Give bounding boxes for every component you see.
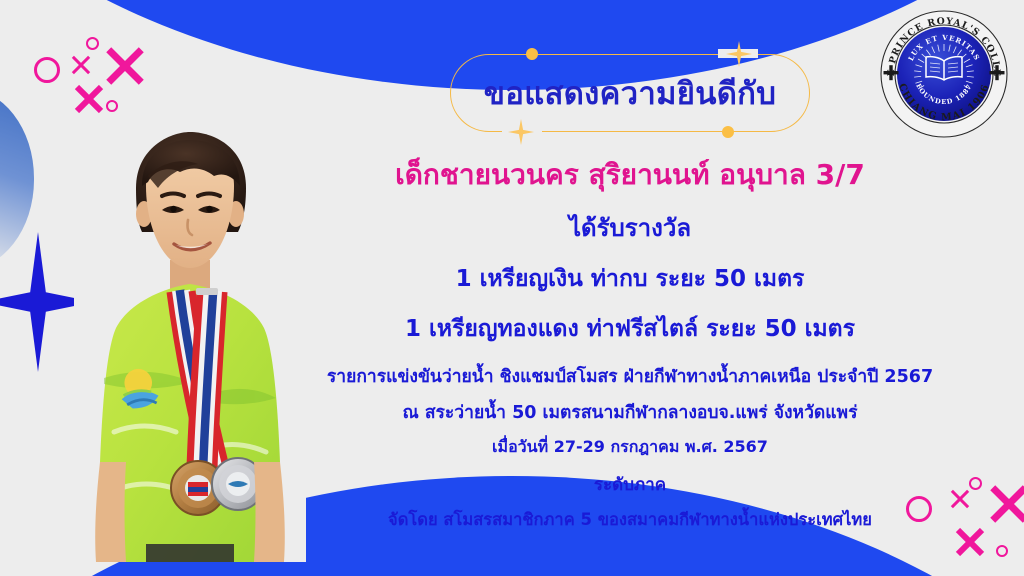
award-label: ได้รับรางวัล	[300, 208, 960, 247]
circle-doodle-icon	[106, 100, 118, 112]
circle-doodle-icon	[996, 545, 1008, 557]
circle-doodle-icon	[86, 37, 99, 50]
student-photo	[74, 132, 306, 562]
student-name: เด็กชายนวนคร สุริยานนท์ อนุบาล 3/7	[300, 153, 960, 197]
left-blue-blob	[0, 88, 34, 270]
award-item-silver: 1 เหรียญเงิน ท่ากบ ระยะ 50 เมตร	[300, 261, 960, 297]
congratulations-poster: THE PRINCE ROYAL'S COLLEGE CHIANG MAI 19…	[0, 0, 1024, 576]
event-date-line: เมื่อวันที่ 27-29 กรกฎาคม พ.ศ. 2567	[300, 435, 960, 460]
pill-dot-icon	[722, 126, 734, 138]
cross-doodle-icon	[986, 481, 1024, 527]
congratulations-heading: ขอแสดงความยินดีกับ	[450, 68, 810, 118]
event-organizer-line: จัดโดย สโมสรสมาชิกภาค 5 ของสมาคมกีฬาทางน…	[300, 507, 960, 533]
pill-dot-icon	[526, 48, 538, 60]
event-level-line: ระดับภาค	[300, 471, 960, 498]
award-item-bronze: 1 เหรียญทองแดง ท่าฟรีสไตล์ ระยะ 50 เมตร	[300, 311, 960, 347]
cross-doodle-icon	[102, 43, 148, 89]
event-venue-line: ณ สระว่ายน้ำ 50 เมตรสนามกีฬากลางอบจ.แพร่…	[300, 398, 960, 426]
text-panel: ขอแสดงความยินดีกับ เด็กชายนวนคร สุริยานน…	[300, 44, 960, 514]
circle-doodle-icon	[969, 477, 982, 490]
circle-doodle-icon	[34, 57, 60, 83]
event-name-line: รายการแข่งขันว่ายน้ำ ชิงแชมป์สโมสร ฝ่ายก…	[300, 362, 960, 390]
cross-doodle-icon	[69, 53, 92, 76]
heading-pill: ขอแสดงความยินดีกับ	[450, 54, 810, 132]
cross-doodle-icon	[72, 82, 106, 116]
